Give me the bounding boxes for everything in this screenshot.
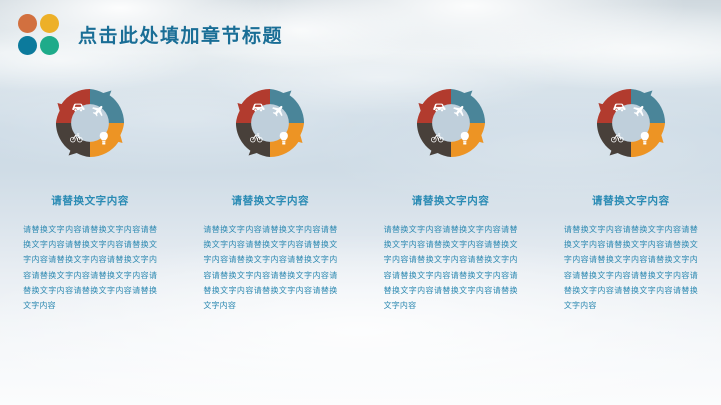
column-heading: 请替换文字内容 (592, 193, 670, 208)
donut-svg (414, 86, 488, 160)
donut-diagram-1[interactable] (53, 86, 127, 160)
dot-orange-icon (18, 14, 37, 33)
column-body-text: 请替换文字内容请替换文字内容请替换文字内容请替换文字内容请替换文字内容请替换文字… (564, 222, 698, 313)
dot-teal-icon (18, 36, 37, 55)
donut-diagram-2[interactable] (233, 86, 307, 160)
column-2: 请替换文字内容 请替换文字内容请替换文字内容请替换文字内容请替换文字内容请替换文… (180, 86, 360, 313)
slide-canvas: 点击此处填加章节标题 (0, 0, 721, 405)
column-3: 请替换文字内容 请替换文字内容请替换文字内容请替换文字内容请替换文字内容请替换文… (361, 86, 541, 313)
column-1: 请替换文字内容 请替换文字内容请替换文字内容请替换文字内容请替换文字内容请替换文… (0, 86, 180, 313)
column-body-text: 请替换文字内容请替换文字内容请替换文字内容请替换文字内容请替换文字内容请替换文字… (203, 222, 337, 313)
column-heading: 请替换文字内容 (232, 193, 310, 208)
column-body-text: 请替换文字内容请替换文字内容请替换文字内容请替换文字内容请替换文字内容请替换文字… (384, 222, 518, 313)
column-heading: 请替换文字内容 (412, 193, 490, 208)
content-columns: 请替换文字内容 请替换文字内容请替换文字内容请替换文字内容请替换文字内容请替换文… (0, 86, 721, 313)
logo-dot-cluster (18, 14, 59, 55)
donut-svg (53, 86, 127, 160)
column-4: 请替换文字内容 请替换文字内容请替换文字内容请替换文字内容请替换文字内容请替换文… (541, 86, 721, 313)
donut-diagram-3[interactable] (414, 86, 488, 160)
page-title: 点击此处填加章节标题 (78, 21, 283, 48)
column-heading: 请替换文字内容 (51, 193, 129, 208)
dot-green-icon (40, 36, 59, 55)
slide-header: 点击此处填加章节标题 (18, 14, 283, 55)
column-body-text: 请替换文字内容请替换文字内容请替换文字内容请替换文字内容请替换文字内容请替换文字… (23, 222, 157, 313)
donut-svg (594, 86, 668, 160)
donut-diagram-4[interactable] (594, 86, 668, 160)
dot-yellow-icon (40, 14, 59, 33)
donut-svg (233, 86, 307, 160)
